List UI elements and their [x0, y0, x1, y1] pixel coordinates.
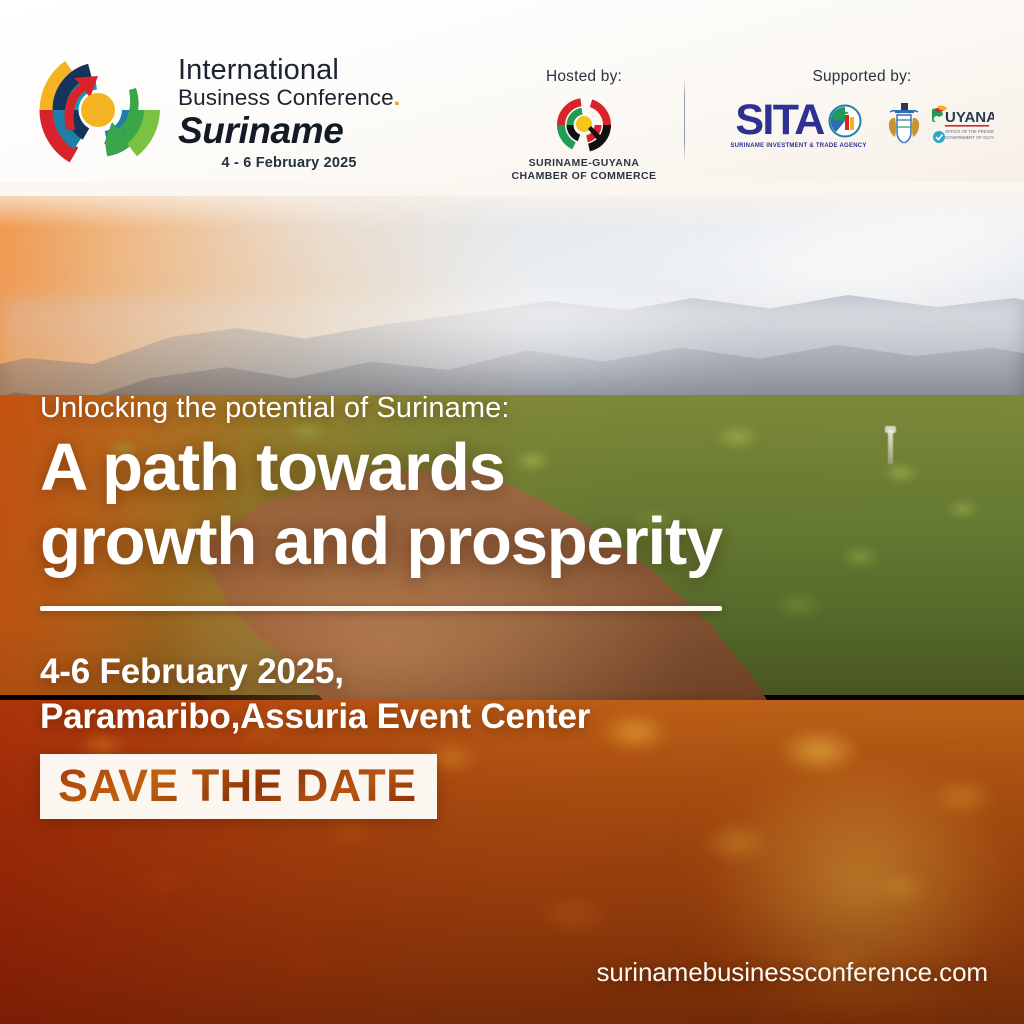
chamber-name-line2: CHAMBER OF COMMERCE: [511, 170, 656, 183]
chamber-of-commerce-logo: [557, 98, 611, 152]
guyana-wordmark-icon: UYANA OFFICE OF THE PRESIDENT GOVERNMENT…: [932, 104, 994, 146]
header-divider: [684, 78, 685, 162]
guyana-logo-block: UYANA OFFICE OF THE PRESIDENT GOVERNMENT…: [881, 100, 994, 150]
sita-wordmark: SITA: [735, 101, 823, 140]
hosted-by-block: Hosted by: SURINAME-G: [494, 68, 674, 184]
brand-line-business-conference: Business Conference.: [178, 85, 400, 110]
svg-text:UYANA: UYANA: [945, 109, 994, 126]
supporter-logos: SITA SURINAME INVESTMENT & TRADE AGENCY: [704, 100, 1020, 150]
poster-copy: Unlocking the potential of Suriname: A p…: [40, 392, 990, 819]
eyebrow-text: Unlocking the potential of Suriname:: [40, 392, 990, 425]
divider-rule: [40, 606, 722, 611]
event-date: 4-6 February 2025,: [40, 649, 990, 695]
sita-row: SITA: [735, 101, 861, 140]
website-url[interactable]: surinamebusinessconference.com: [596, 957, 988, 988]
poster: International Business Conference. Surin…: [0, 0, 1024, 1024]
chamber-name: SURINAME-GUYANA CHAMBER OF COMMERCE: [511, 157, 656, 184]
headline: A path towards growth and prosperity: [40, 431, 990, 580]
conference-brand-lockup: International Business Conference. Surin…: [36, 44, 400, 176]
supported-by-block: Supported by: SITA SURI: [704, 68, 1020, 150]
brand-text-block: International Business Conference. Surin…: [178, 49, 400, 172]
svg-text:OFFICE OF THE PRESIDENT: OFFICE OF THE PRESIDENT: [945, 129, 994, 134]
guyana-coat-of-arms-icon: [881, 100, 927, 150]
event-venue: Paramaribo,Assuria Event Center: [40, 694, 990, 740]
event-details: 4-6 February 2025, Paramaribo,Assuria Ev…: [40, 649, 990, 740]
conference-swirl-logo: [36, 44, 164, 176]
save-the-date-text: SAVE THE DATE: [58, 760, 417, 811]
brand-accent-dot: .: [394, 85, 400, 110]
svg-text:GOVERNMENT OF GUYANA: GOVERNMENT OF GUYANA: [945, 135, 994, 140]
chamber-name-line1: SURINAME-GUYANA: [511, 157, 656, 170]
header-bar: International Business Conference. Surin…: [0, 0, 1024, 196]
chamber-logo-block: SURINAME-GUYANA CHAMBER OF COMMERCE: [494, 98, 674, 184]
brand-dates: 4 - 6 February 2025: [178, 155, 400, 171]
sita-logo-block: SITA SURINAME INVESTMENT & TRADE AGENCY: [730, 101, 866, 149]
supported-by-label: Supported by:: [704, 68, 1020, 86]
hosted-by-label: Hosted by:: [494, 68, 674, 86]
sita-emblem-icon: [828, 104, 862, 138]
headline-line-1: A path towards: [40, 431, 990, 505]
sita-tagline: SURINAME INVESTMENT & TRADE AGENCY: [730, 143, 866, 149]
brand-line-international: International: [178, 55, 400, 85]
save-the-date-badge: SAVE THE DATE: [40, 754, 437, 819]
headline-line-2: growth and prosperity: [40, 505, 990, 579]
brand-line-suriname: Suriname: [178, 111, 400, 150]
